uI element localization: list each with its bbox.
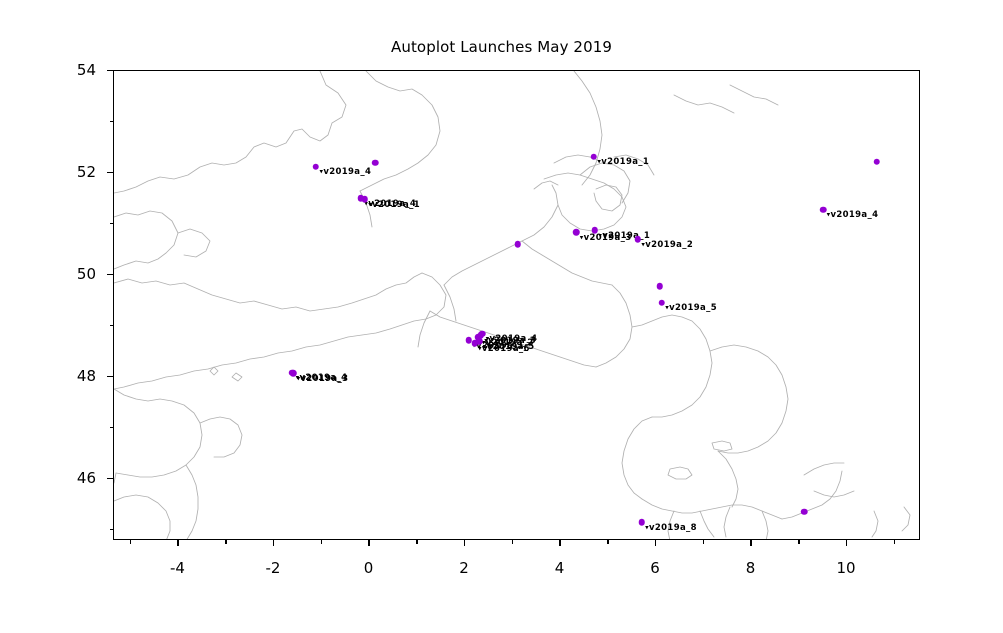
y-tick-label: 48 bbox=[0, 367, 96, 385]
x-tick-minor bbox=[416, 540, 417, 544]
x-tick bbox=[655, 540, 656, 546]
data-point-label: ▾v2019a_3 bbox=[297, 374, 349, 384]
data-point-marker[interactable] bbox=[801, 509, 808, 516]
x-tick-minor bbox=[512, 540, 513, 544]
x-tick-label: 0 bbox=[338, 559, 398, 577]
data-point-label-text: v2019a_1 bbox=[601, 157, 649, 167]
data-points-layer: ▾v2019a_4▾v2019a_4▾v2019a_1▾v2019a_4▾v20… bbox=[114, 71, 920, 540]
data-point-marker[interactable] bbox=[873, 158, 880, 165]
data-point-marker[interactable] bbox=[514, 241, 521, 248]
data-point-label: ▾v2019a_4 bbox=[827, 210, 879, 220]
x-tick-label: 6 bbox=[625, 559, 685, 577]
data-point-label-text: v2019a_1 bbox=[372, 200, 420, 210]
data-point-marker[interactable] bbox=[591, 153, 598, 160]
data-point-marker[interactable] bbox=[635, 236, 642, 243]
x-tick-minor bbox=[703, 540, 704, 544]
data-point-label: ▾v2019a_1 bbox=[597, 157, 649, 167]
y-tick bbox=[107, 172, 113, 173]
y-tick-label: 50 bbox=[0, 265, 96, 283]
y-tick-minor bbox=[110, 121, 114, 122]
data-point-label-text: v2019a_6 bbox=[482, 344, 530, 354]
x-tick-label: 4 bbox=[529, 559, 589, 577]
data-point-label-text: v2019a_3 bbox=[300, 374, 348, 384]
data-point-marker[interactable] bbox=[820, 206, 827, 213]
data-point-label: ▾v2019a_5 bbox=[665, 303, 717, 313]
data-point-marker[interactable] bbox=[657, 283, 664, 290]
data-point-marker[interactable] bbox=[290, 370, 297, 377]
y-tick-minor bbox=[110, 427, 114, 428]
data-point-marker[interactable] bbox=[372, 160, 379, 167]
x-tick-minor bbox=[607, 540, 608, 544]
data-point-label: ▾v2019a_8 bbox=[645, 523, 697, 533]
y-tick-minor bbox=[110, 325, 114, 326]
data-point-label: ▾v2019a_6 bbox=[478, 344, 530, 354]
data-point-label-text: v2019a_5 bbox=[669, 303, 717, 313]
y-tick bbox=[107, 376, 113, 377]
x-tick-label: 2 bbox=[434, 559, 494, 577]
y-tick bbox=[107, 70, 113, 71]
data-point-marker[interactable] bbox=[638, 519, 645, 526]
x-tick bbox=[559, 540, 560, 546]
y-tick bbox=[107, 478, 113, 479]
x-tick-label: -4 bbox=[147, 559, 207, 577]
x-tick-label: 8 bbox=[720, 559, 780, 577]
x-tick bbox=[846, 540, 847, 546]
data-point-marker[interactable] bbox=[471, 340, 478, 347]
x-tick bbox=[368, 540, 369, 546]
y-tick-label: 46 bbox=[0, 469, 96, 487]
data-point-label-text: v2019a_8 bbox=[649, 523, 697, 533]
y-tick bbox=[107, 274, 113, 275]
figure-canvas: Autoplot Launches May 2019 bbox=[0, 0, 1003, 633]
x-tick bbox=[177, 540, 178, 546]
data-point-marker[interactable] bbox=[658, 300, 665, 307]
page-title: Autoplot Launches May 2019 bbox=[0, 38, 1003, 56]
map-plot-area[interactable]: ▾v2019a_4▾v2019a_4▾v2019a_1▾v2019a_4▾v20… bbox=[113, 70, 920, 540]
x-tick-label: 10 bbox=[816, 559, 876, 577]
data-point-marker[interactable] bbox=[479, 330, 486, 337]
x-tick-minor bbox=[130, 540, 131, 544]
data-point-label: ▾v2019a_1 bbox=[368, 200, 420, 210]
data-point-marker[interactable] bbox=[592, 227, 599, 234]
x-tick bbox=[750, 540, 751, 546]
x-tick bbox=[464, 540, 465, 546]
x-tick-minor bbox=[225, 540, 226, 544]
data-point-marker[interactable] bbox=[573, 229, 580, 236]
y-tick-label: 52 bbox=[0, 163, 96, 181]
data-point-marker[interactable] bbox=[313, 164, 320, 171]
y-tick-minor bbox=[110, 223, 114, 224]
x-tick-minor bbox=[321, 540, 322, 544]
data-point-label-text: v2019a_2 bbox=[645, 240, 693, 250]
x-tick-minor bbox=[894, 540, 895, 544]
y-tick-minor bbox=[110, 529, 114, 530]
x-tick-minor bbox=[798, 540, 799, 544]
x-tick-label: -2 bbox=[243, 559, 303, 577]
data-point-label-text: v2019a_4 bbox=[323, 167, 371, 177]
data-point-label-text: v2019a_4 bbox=[830, 210, 878, 220]
data-point-label: ▾v2019a_2 bbox=[641, 240, 693, 250]
y-tick-label: 54 bbox=[0, 61, 96, 79]
data-point-marker[interactable] bbox=[361, 196, 368, 203]
data-point-label: ▾v2019a_4 bbox=[319, 167, 371, 177]
x-tick bbox=[273, 540, 274, 546]
